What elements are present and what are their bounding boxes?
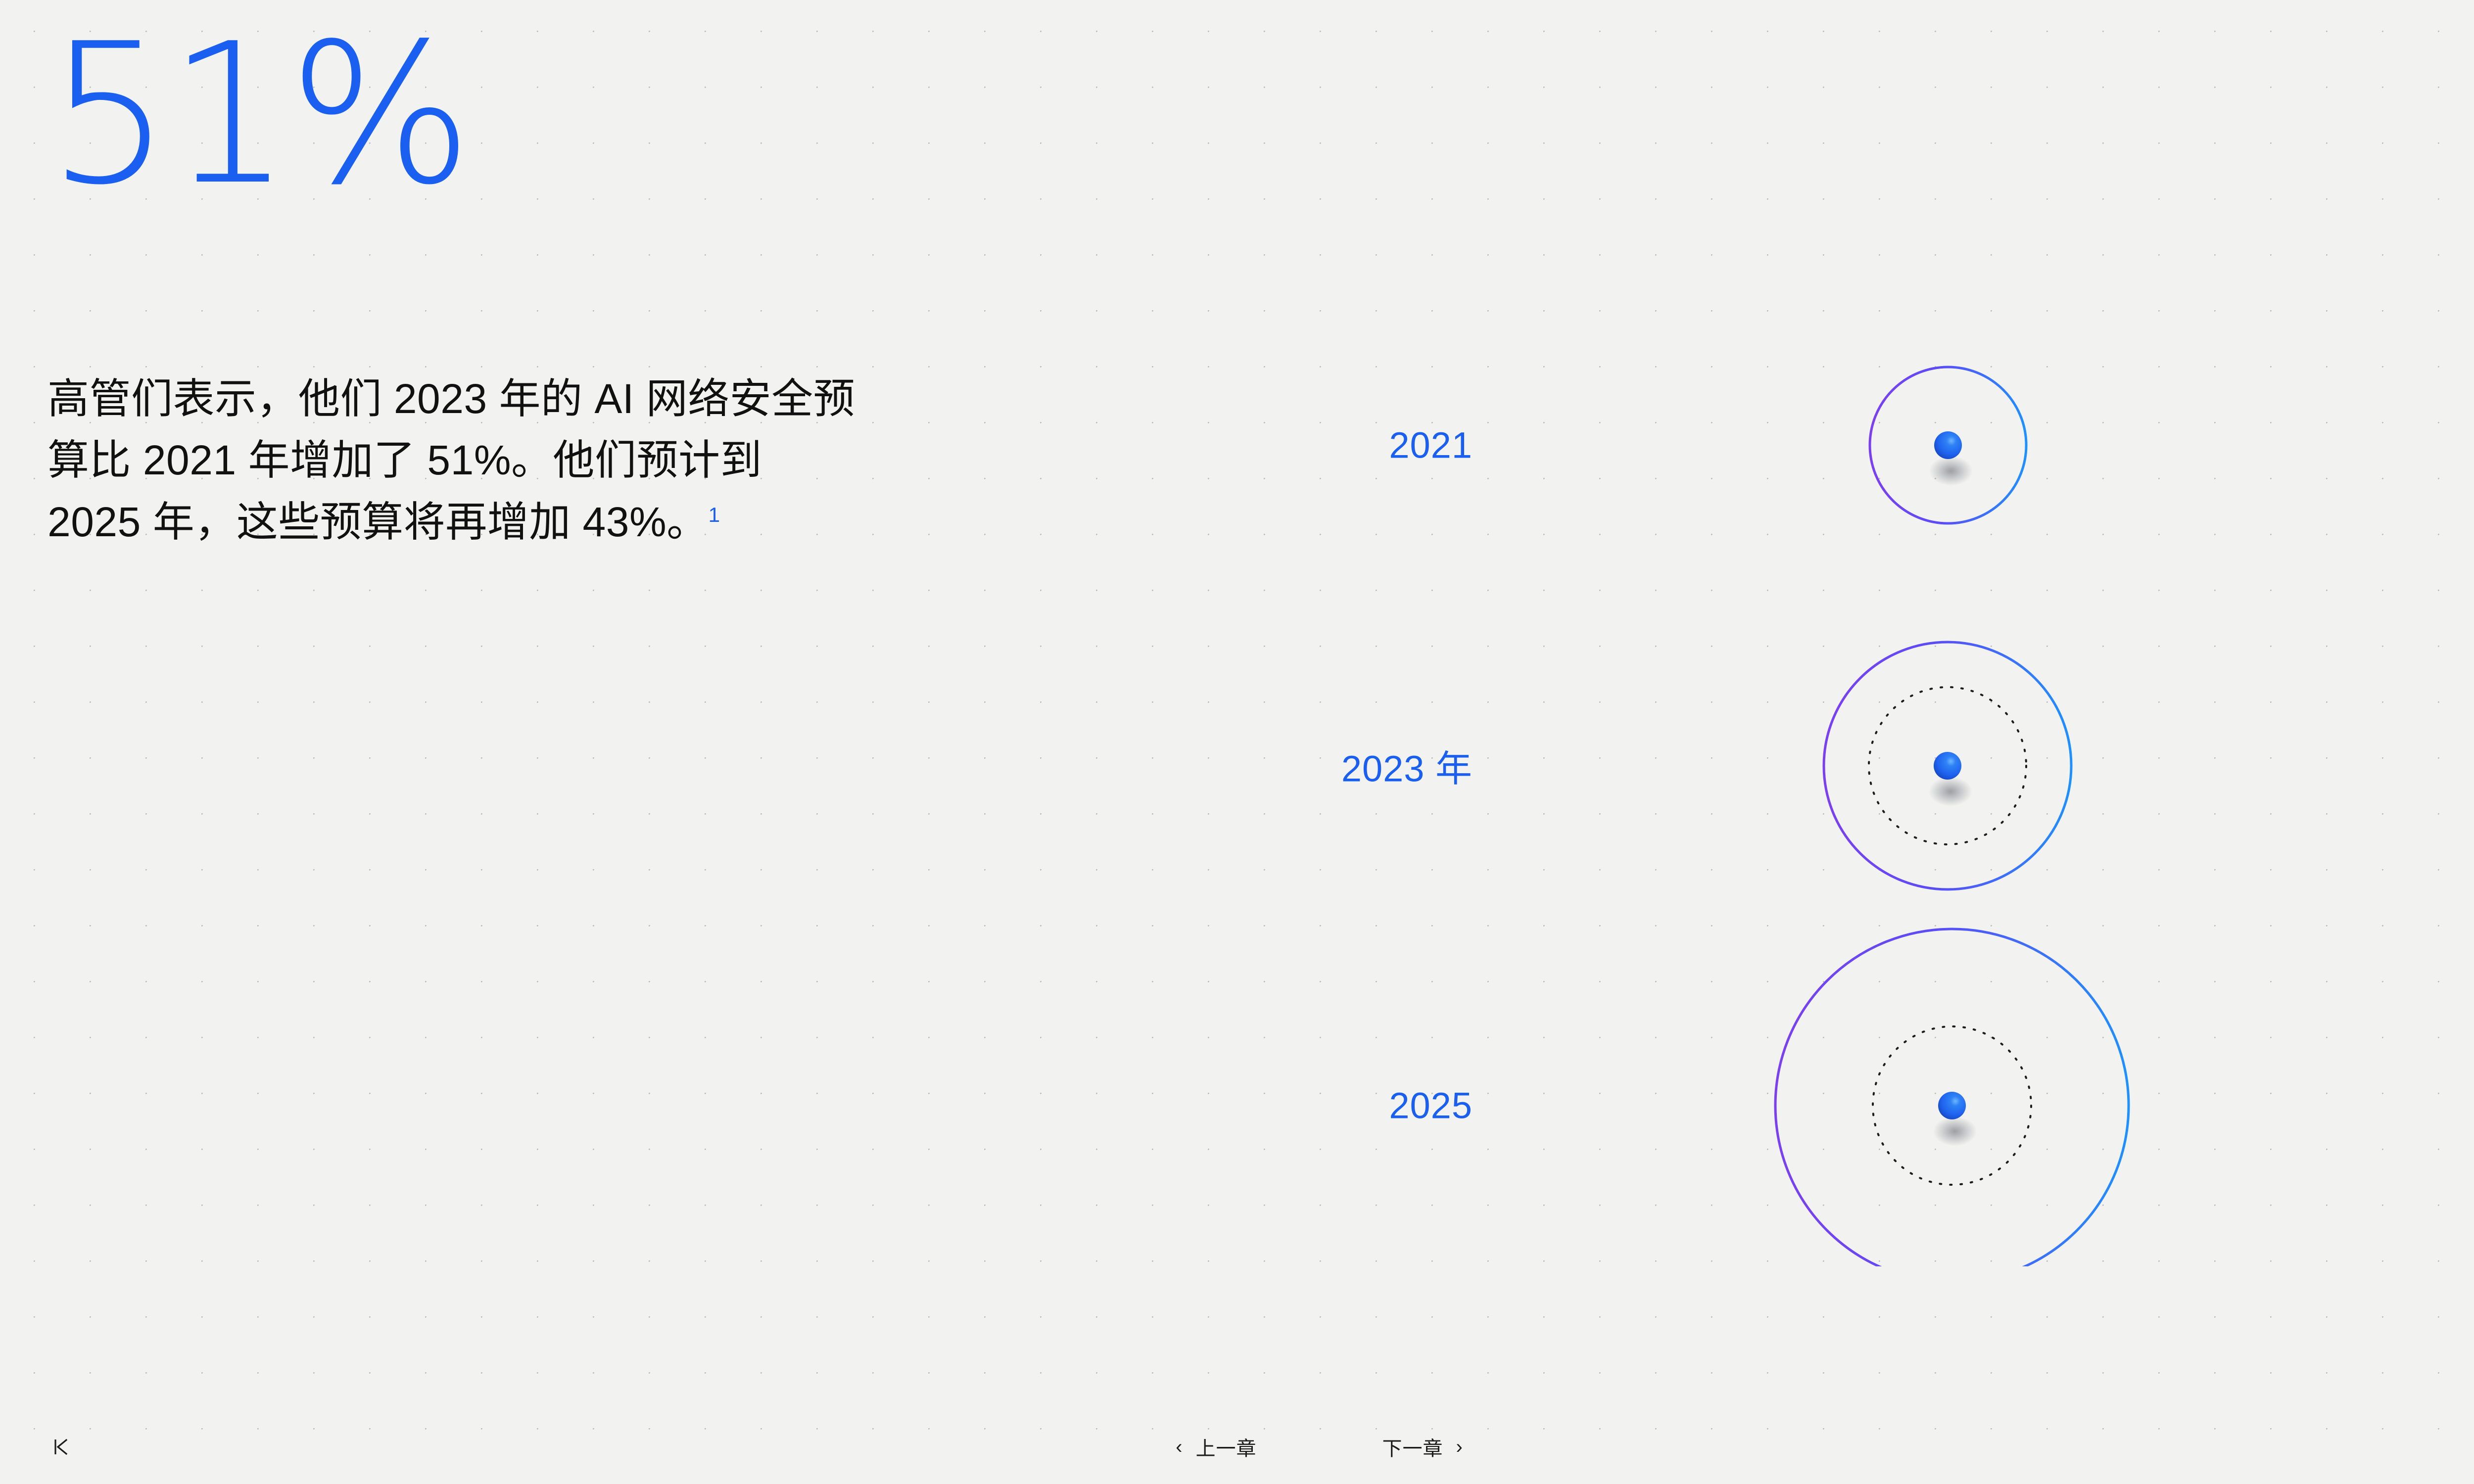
node-sphere-2021 <box>1934 431 1962 459</box>
skip-to-start-button[interactable] <box>48 1433 75 1461</box>
prev-chapter-button[interactable]: ‹ 上一章 <box>1176 1433 1256 1461</box>
skip-to-start-icon <box>50 1436 73 1458</box>
bubble-group-2021[interactable] <box>1435 367 2026 523</box>
chevron-left-icon: ‹ <box>1176 1437 1183 1457</box>
node-shadow-2025 <box>1933 1116 1977 1146</box>
chevron-right-icon: › <box>1456 1437 1463 1457</box>
body-paragraph: 高管们表示，他们 2023 年的 AI 网络安全预算比 2021 年增加了 51… <box>48 368 859 553</box>
node-sphere-2023 <box>1934 752 1961 780</box>
slide-canvas: 51% 高管们表示，他们 2023 年的 AI 网络安全预算比 2021 年增加… <box>0 0 2474 1484</box>
bubble-label-2021: 2021 <box>1389 424 1473 466</box>
bubble-label-2025: 2025 <box>1389 1085 1473 1127</box>
footer-bar: ‹ 上一章 下一章 › 8 <box>0 1410 2474 1484</box>
node-shadow-2023 <box>1929 777 1972 806</box>
footnote-marker[interactable]: 1 <box>709 503 720 526</box>
node-shadow-2021 <box>1929 456 1973 486</box>
prev-chapter-label: 上一章 <box>1196 1433 1257 1461</box>
left-content-column: 51% 高管们表示，他们 2023 年的 AI 网络安全预算比 2021 年增加… <box>48 22 879 208</box>
next-chapter-button[interactable]: 下一章 › <box>1382 1433 1463 1461</box>
next-chapter-label: 下一章 <box>1382 1433 1443 1461</box>
body-paragraph-text: 高管们表示，他们 2023 年的 AI 网络安全预算比 2021 年增加了 51… <box>48 375 855 545</box>
chapter-nav: ‹ 上一章 下一章 › <box>1176 1433 1463 1461</box>
stat-headline: 51% <box>48 22 879 208</box>
node-sphere-2025 <box>1938 1092 1966 1119</box>
bubble-diagram: 2021 2023 年 2025 <box>1336 277 2227 1266</box>
bubble-group-2025[interactable] <box>1435 929 2129 1266</box>
bubble-label-2023: 2023 年 <box>1341 740 1473 792</box>
bubble-group-2023[interactable] <box>1435 642 2071 889</box>
